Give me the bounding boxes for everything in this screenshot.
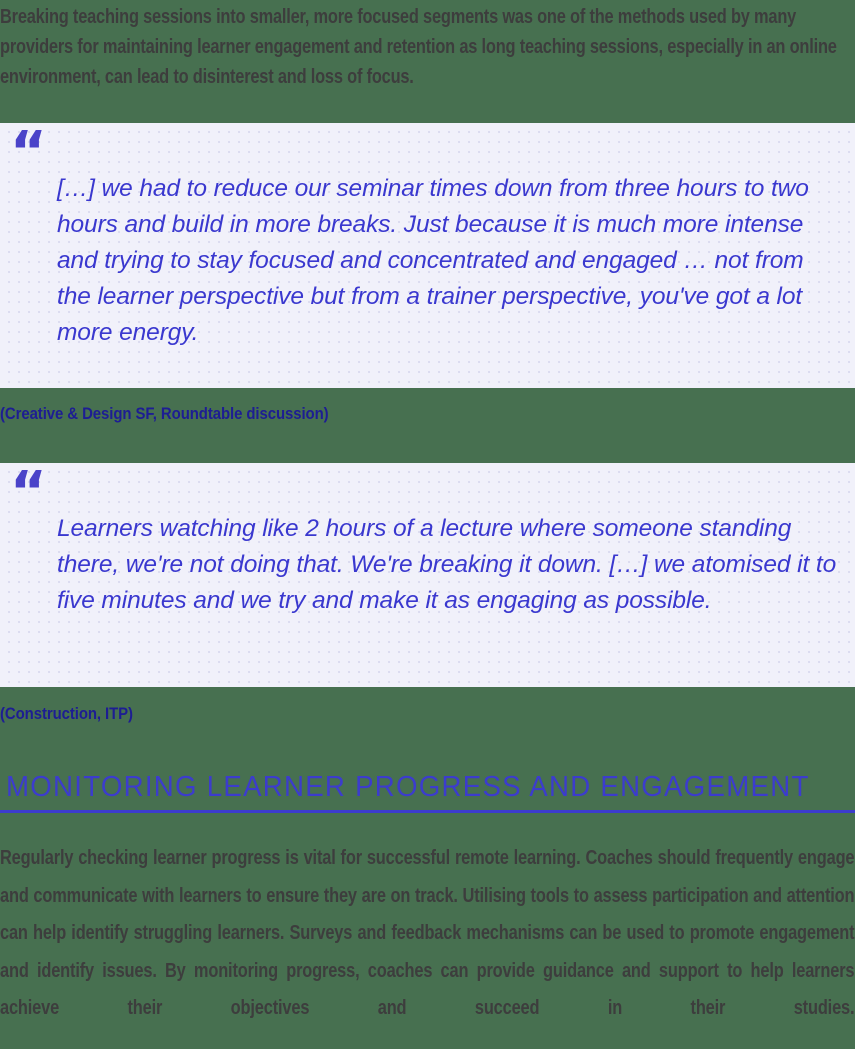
quote-mark-icon: “: [10, 125, 45, 181]
section-heading: Monitoring learner progress and engageme…: [6, 770, 810, 804]
intro-paragraph: Breaking teaching sessions into smaller,…: [0, 0, 855, 92]
document-page: Breaking teaching sessions into smaller,…: [0, 0, 855, 1049]
quote-text-1: […] we had to reduce our seminar times d…: [57, 171, 837, 351]
quote-text-2: Learners watching like 2 hours of a lect…: [57, 511, 837, 619]
section-paragraph: Regularly checking learner progress is v…: [0, 839, 854, 1049]
quote-card-2: “ Learners watching like 2 hours of a le…: [0, 463, 855, 687]
quote-mark-icon: “: [10, 465, 45, 521]
heading-divider: [0, 810, 855, 813]
quote-card-1: “ […] we had to reduce our seminar times…: [0, 123, 855, 388]
quote-attribution-2: (Construction, ITP): [0, 703, 133, 725]
quote-attribution-1: (Creative & Design SF, Roundtable discus…: [0, 403, 329, 425]
